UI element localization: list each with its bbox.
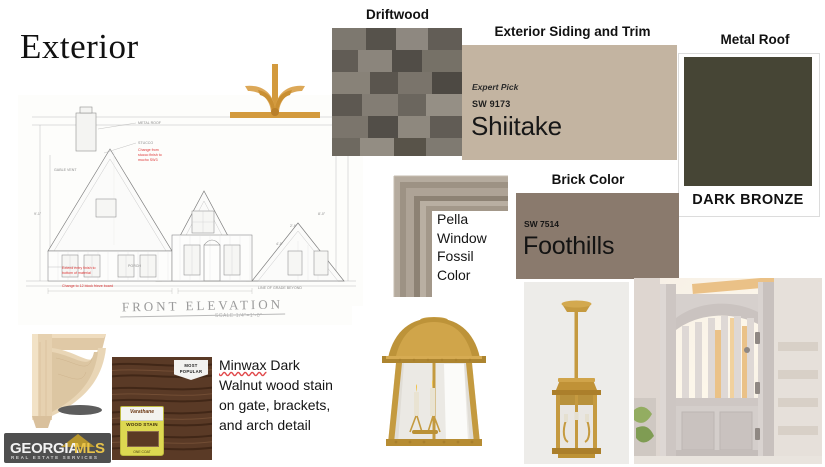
stain-can-label: WOOD STAIN [121,422,163,427]
georgia-mls-logo: GEORGIA MLS REAL ESTATE SERVICES [4,433,111,463]
brick-caption: Brick Color [523,173,653,188]
shiitake-code: SW 9173 [472,99,510,109]
pella-line-4: Color [437,266,509,285]
stain-can-brand: Varathane [121,409,163,415]
svg-text:bottom of material: bottom of material [62,271,91,275]
arched-wood-garden-gate-image [634,278,822,464]
svg-text:STUCCO: STUCCO [138,141,153,145]
dark-bronze-name: DARK BRONZE [678,192,818,208]
svg-text:2'-6": 2'-6" [290,224,298,228]
stain-can-footer: ONE COAT [121,450,163,454]
page-title: Exterior [20,27,139,67]
svg-text:PORCH: PORCH [128,264,141,268]
svg-text:4'-0": 4'-0" [276,242,284,246]
front-elevation-drawing: METAL ROOF STUCCO Change from stucco fin… [18,95,363,325]
wood-corbel-bracket-image [18,328,116,436]
shiitake-name: Shiitake [471,111,562,142]
svg-text:Extend entry finish to: Extend entry finish to [62,266,96,270]
foothills-name: Foothills [523,232,614,261]
svg-text:stucco finish to: stucco finish to [138,153,162,157]
svg-text:Change from: Change from [138,148,159,152]
minwax-note: Minwax Dark Walnut wood stain on gate, b… [219,356,339,436]
pella-line-1: Pella [437,210,509,229]
expert-pick-label: Expert Pick [472,82,518,92]
svg-text:LINE OF GRADE BEYOND: LINE OF GRADE BEYOND [258,286,302,290]
siding-caption: Exterior Siding and Trim [470,25,675,40]
stain-can-color-chip [127,431,159,447]
brass-pendant-lantern-image [524,282,629,464]
svg-text:mucho SW3: mucho SW3 [138,158,158,162]
driftwood-shingle-swatch [332,28,462,156]
minwax-brand: Minwax [219,357,266,373]
svg-text:9'-1": 9'-1" [34,212,42,216]
wood-stain-can: Varathane WOOD STAIN ONE COAT [120,406,164,456]
design-board: Exterior [0,0,825,467]
pella-window-note: Pella Window Fossil Color [437,210,509,284]
pella-line-2: Window [437,229,509,248]
driftwood-caption: Driftwood [330,8,465,23]
svg-text:8'-0": 8'-0" [318,212,326,216]
foothills-code: SW 7514 [524,219,559,229]
svg-text:Change to 12 block frieze boar: Change to 12 block frieze board [62,284,113,288]
dark-walnut-wood-stain-image: MOST POPULAR Varathane WOOD STAIN ONE CO… [112,357,212,460]
svg-text:METAL ROOF: METAL ROOF [138,121,162,125]
metal-roof-caption: Metal Roof [690,33,820,48]
dark-bronze-swatch [684,57,812,186]
pella-line-3: Fossil [437,247,509,266]
logo-tagline: REAL ESTATE SERVICES [11,455,99,460]
svg-text:GABLE VENT: GABLE VENT [54,168,77,172]
arch-detail-ornament [225,60,325,122]
front-elevation-scale: SCALE 1/4"=1'-0" [215,313,262,319]
brass-wall-lantern-sconce-image [352,306,517,464]
